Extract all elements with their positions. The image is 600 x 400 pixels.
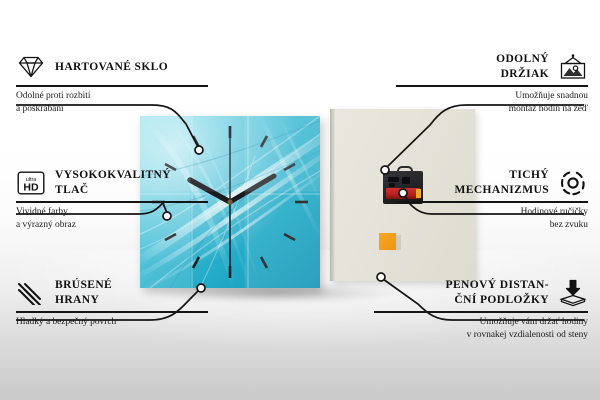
feature-divider	[16, 311, 208, 313]
feature-title-line-2: ČNÍ PODLOŽKY	[454, 294, 549, 306]
infographic-canvas: HARTOVANÉ SKLO Odolné proti rozbití a po…	[0, 0, 600, 400]
feature-subtitle: Vividné farby a výrazný obraz	[16, 206, 226, 233]
feature-heading: PENOVÝ DISTAN- ČNÍ PODLOŽKY	[356, 278, 588, 308]
feature-heading: HARTOVANÉ SKLO	[16, 52, 226, 82]
feature-subtitle: Odolné proti rozbití a poškrábání	[16, 90, 226, 117]
hanging-frame-icon	[558, 52, 588, 82]
feature-foam-spacers: PENOVÝ DISTAN- ČNÍ PODLOŽKY Umožňuje vám…	[356, 278, 588, 342]
feature-title-line-2: MECHANIZMUS	[455, 184, 550, 196]
feature-ground-edges: BRÚSENÉ HRANY Hladký a bezpečný povrch	[16, 278, 226, 329]
diamond-icon	[16, 52, 46, 82]
feature-durable-hanger: ODOLNÝ DRŽIAK Umožňuje snadnou montáž ho…	[378, 52, 588, 116]
feature-title-line-1: VYSOKOKVALITNÝ	[55, 169, 171, 181]
feature-title-line-1: ODOLNÝ	[496, 53, 549, 65]
feature-subtitle: Hladký a bezpečný povrch	[16, 316, 226, 329]
press-pad-icon	[558, 278, 588, 308]
feature-title-line-2: HRANY	[55, 294, 99, 306]
feature-subtitle: Umožňuje snadnou montáž hodin na zeď	[378, 90, 588, 117]
feature-title: BRÚSENÉ HRANY	[55, 278, 112, 307]
feature-divider	[396, 201, 588, 203]
feature-divider	[16, 201, 208, 203]
feature-divider	[16, 85, 208, 87]
feature-title: VYSOKOKVALITNÝ TLAČ	[55, 168, 171, 197]
feature-high-quality-print: ultra HD VYSOKOKVALITNÝ TLAČ Vividné far…	[16, 168, 226, 232]
feature-divider	[396, 85, 588, 87]
feature-heading: ODOLNÝ DRŽIAK	[378, 52, 588, 82]
feature-title-line-1: TICHÝ	[509, 169, 549, 181]
feature-title: PENOVÝ DISTAN- ČNÍ PODLOŽKY	[446, 278, 549, 307]
feature-tempered-glass: HARTOVANÉ SKLO Odolné proti rozbití a po…	[16, 52, 226, 116]
feature-silent-mechanism: TICHÝ MECHANIZMUS Hodinové ručičky bez z…	[378, 168, 588, 232]
feature-heading: TICHÝ MECHANIZMUS	[378, 168, 588, 198]
feature-title-line-1: PENOVÝ DISTAN-	[446, 279, 549, 291]
feature-title-line-1: BRÚSENÉ	[55, 279, 112, 291]
feature-subtitle: Umožňuje vám držať hodiny v rovnakej vzd…	[356, 316, 588, 343]
ultra-hd-badge-icon: ultra HD	[16, 168, 46, 198]
diagonal-lines-icon	[16, 278, 46, 308]
feature-title-line-2: DRŽIAK	[501, 68, 549, 80]
feature-title-line-2: TLAČ	[55, 184, 89, 196]
hd-label: HD	[23, 182, 39, 194]
feature-title: HARTOVANÉ SKLO	[55, 60, 168, 75]
feature-heading: ultra HD VYSOKOKVALITNÝ TLAČ	[16, 168, 226, 198]
feature-heading: BRÚSENÉ HRANY	[16, 278, 226, 308]
feature-title: TICHÝ MECHANIZMUS	[455, 168, 550, 197]
feature-title: ODOLNÝ DRŽIAK	[496, 52, 549, 81]
gear-icon	[558, 168, 588, 198]
feature-subtitle: Hodinové ručičky bez zvuku	[378, 206, 588, 233]
connector-dot-tempered-glass	[195, 146, 203, 154]
feature-divider	[374, 311, 588, 313]
